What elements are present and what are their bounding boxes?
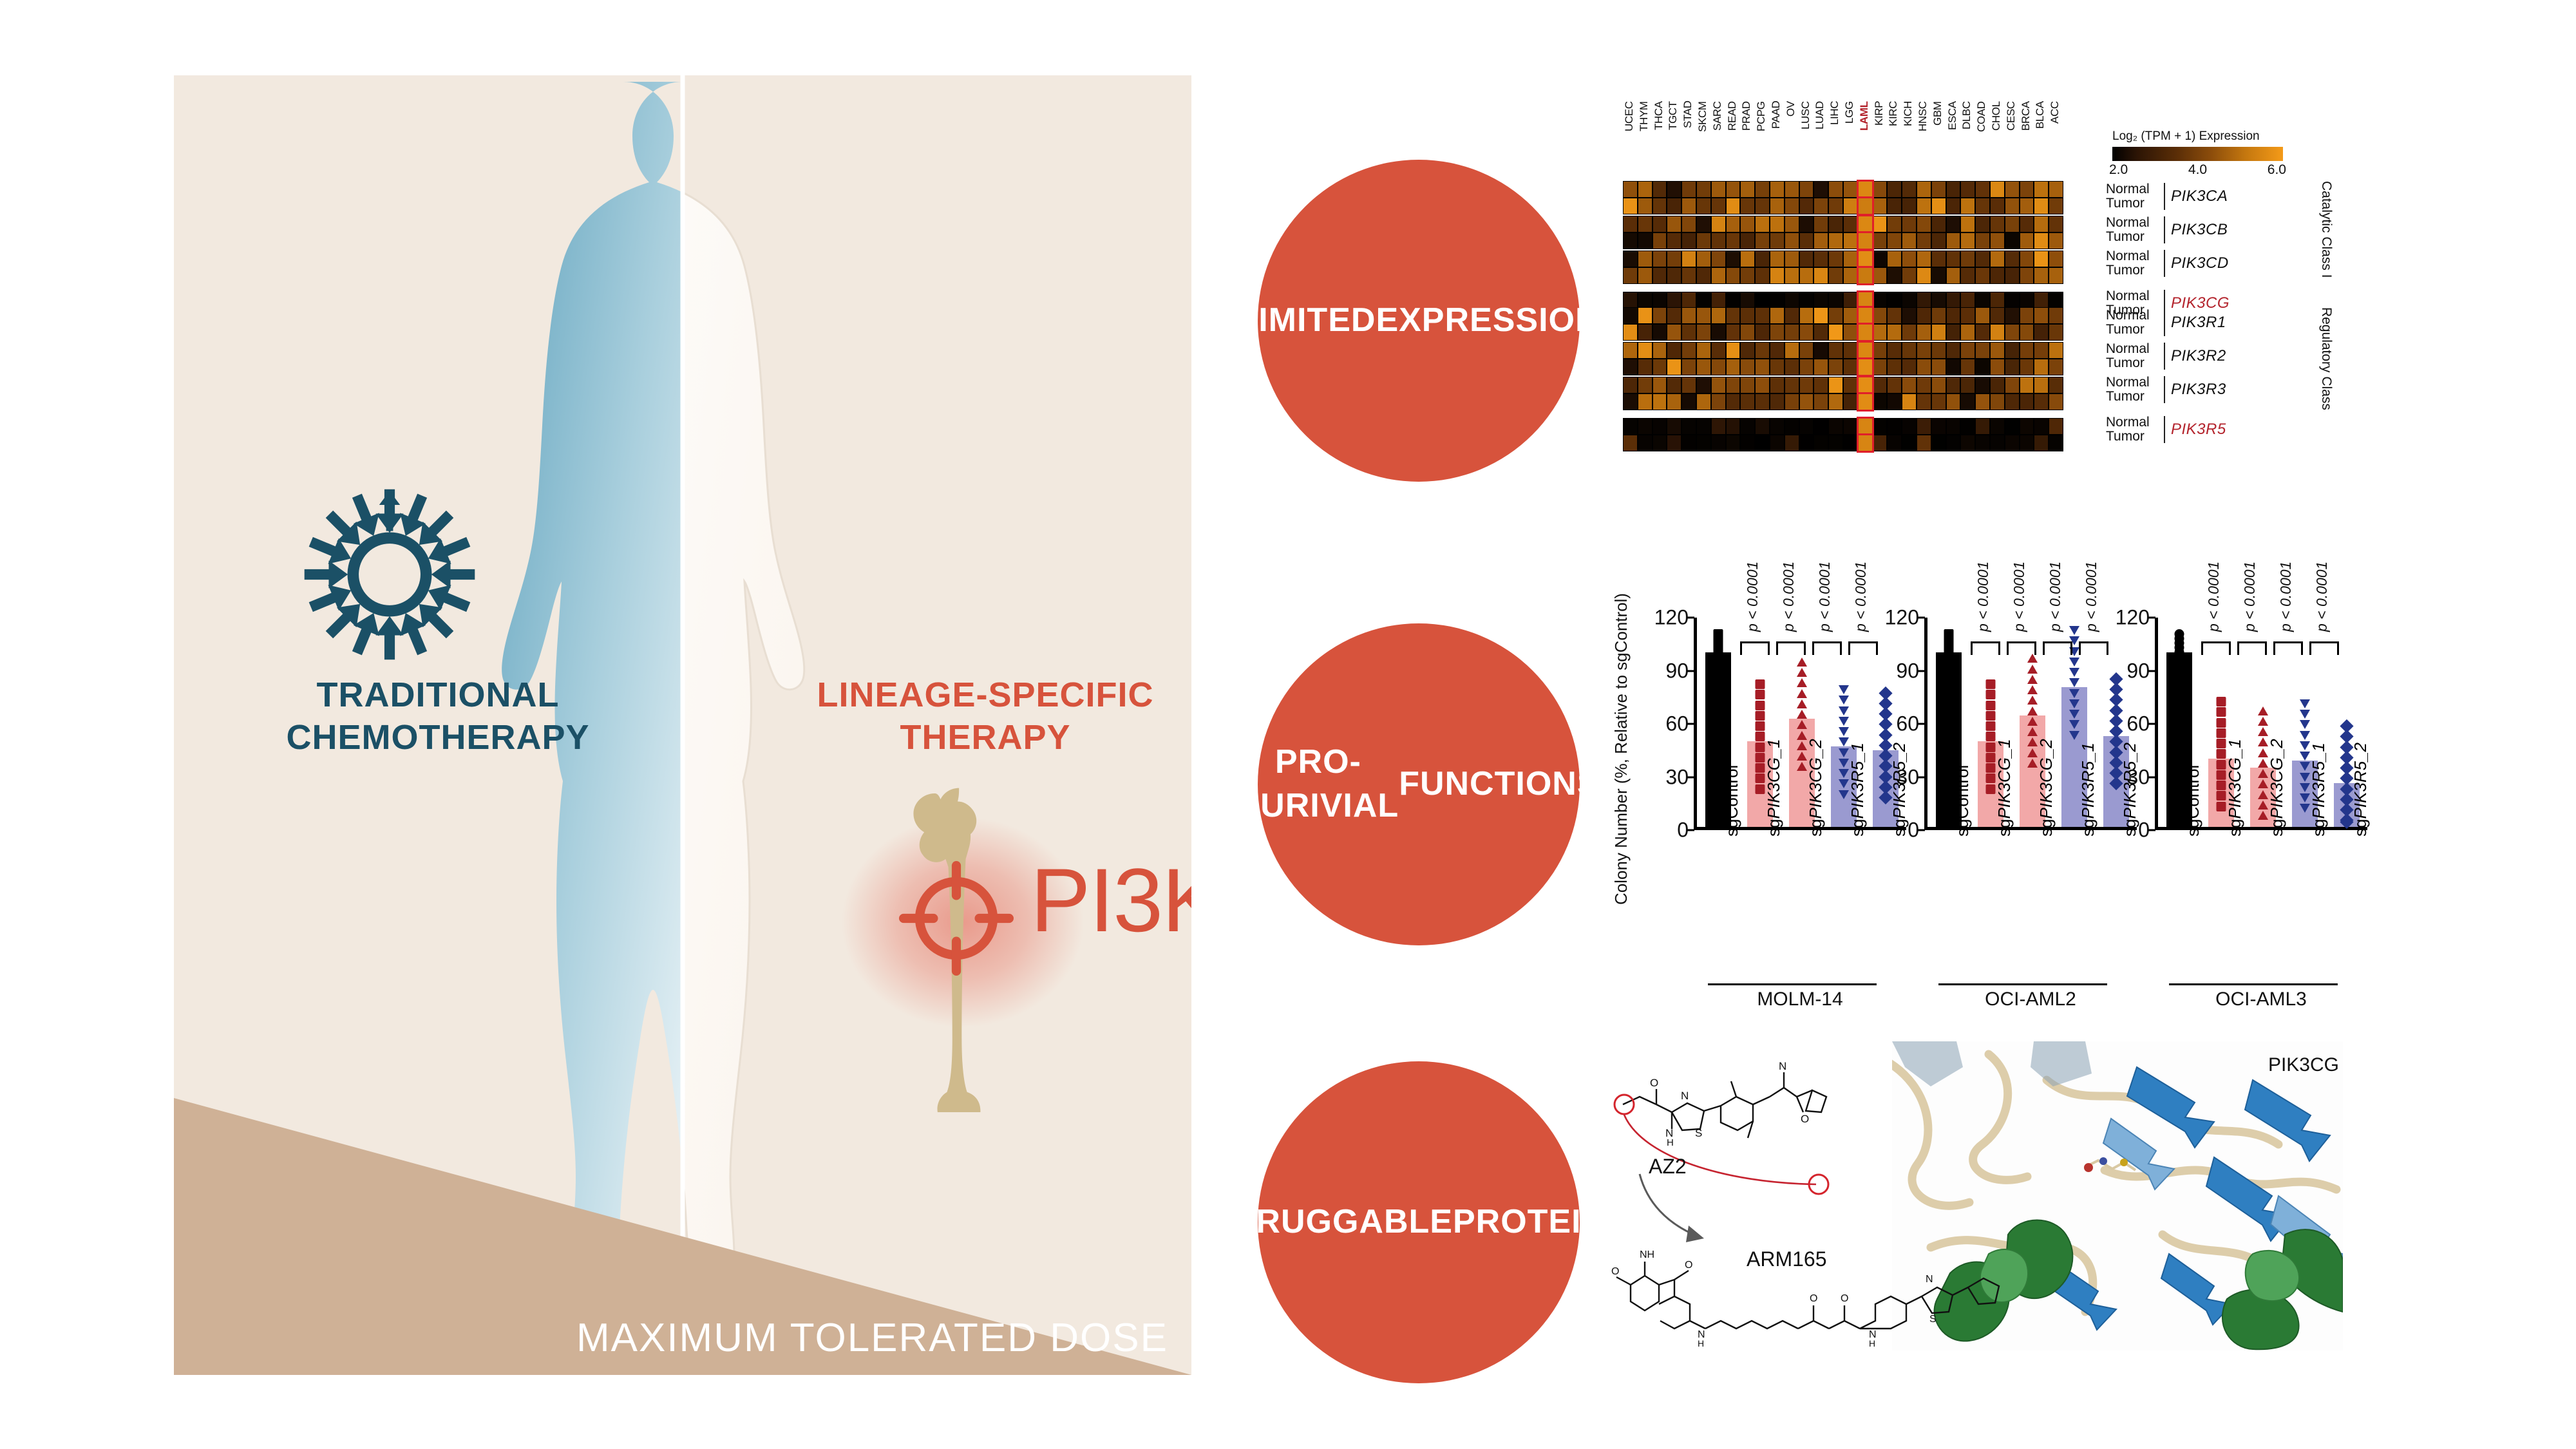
heatmap-cell: [1873, 267, 1888, 284]
heatmap-cell: [1975, 359, 1990, 375]
x-tick-label-sgpik3r5_2: sgPIK3R5_2: [2120, 743, 2140, 837]
heatmap-cell: [1711, 251, 1726, 267]
heatmap-cell: [1931, 251, 1946, 267]
heatmap-cell: [1711, 435, 1726, 451]
heatmap-cell: [1755, 324, 1770, 341]
scatter-point: [2258, 706, 2268, 715]
heatmap-cell: [1975, 198, 1990, 214]
scatter-point: [1713, 629, 1723, 639]
heatmap-cell: [1667, 267, 1681, 284]
heatmap-cell: [1902, 418, 1917, 435]
heatmap-cell: [1726, 307, 1741, 324]
heatmap-row-pik3ca-tumor: [1623, 198, 2063, 214]
heatmap-cell: [1667, 216, 1681, 232]
heatmap-cell: [1638, 324, 1653, 341]
heatmap-cell: [1917, 307, 1931, 324]
heatmap-cell: [2049, 198, 2063, 214]
heatmap-cell: [1799, 418, 1814, 435]
y-tick-label-120: 120: [2116, 606, 2150, 630]
heatmap-cell: [2049, 342, 2063, 359]
heatmap-cell: [2005, 359, 2020, 375]
gene-label-entry-pik3cd: NormalTumorPIK3CD: [2106, 247, 2230, 280]
heatmap-cell: [1799, 267, 1814, 284]
heatmap-cell: [1990, 393, 2005, 410]
heatmap-cell: [1946, 232, 1961, 249]
x-tick-label-sgpik3r5_1: sgPIK3R5_1: [2078, 743, 2098, 837]
legend-tick-2: 6.0: [2268, 162, 2286, 178]
x-tick-label-sgcontrol: sgControl: [1953, 765, 1973, 837]
heatmap-row-pik3r3-tumor: [1623, 393, 2063, 410]
heatmap-cell: [1755, 251, 1770, 267]
heatmap-cell: [2020, 292, 2034, 308]
heatmap-cell: [1843, 216, 1858, 232]
scatter-point: [1985, 784, 1995, 794]
scatter-point: [2300, 731, 2310, 740]
heatmap-cell: [1711, 342, 1726, 359]
heatmap-cell: [2049, 324, 2063, 341]
heatmap-col-label-kirp: KIRP: [1873, 101, 1888, 180]
y-tick-label-90: 90: [2126, 659, 2150, 683]
heatmap-cell: [1667, 359, 1681, 375]
heatmap-col-label-brca: BRCA: [2020, 101, 2034, 180]
regulatory-gene-labels: NormalTumorPIK3R1NormalTumorPIK3R2Normal…: [2106, 306, 2226, 446]
legend-tick-0: 2.0: [2109, 162, 2128, 178]
heatmap-cell: [1917, 324, 1931, 341]
heatmap-cell: [1873, 393, 1888, 410]
scatter-point: [1985, 711, 1995, 721]
chart-group-oci-aml3: 0306090120p < 0.0001p < 0.0001p < 0.0001…: [2155, 584, 2367, 1028]
heatmap-cell: [1638, 216, 1653, 232]
concept-circle-limited-expression: LIMITEDEXPRESSION: [1258, 160, 1580, 482]
heatmap-cell: [1990, 198, 2005, 214]
heatmap-row-pik3r5-tumor: [1623, 435, 2063, 451]
concept-circle-pro-survival-functions: PRO-SURIVIALFUNCTIONS: [1258, 623, 1580, 945]
heatmap-cell: [1785, 435, 1799, 451]
scatter-point: [1985, 679, 1995, 689]
heatmap-col-label-thym: THYM: [1638, 101, 1653, 180]
heatmap-row-spacer: [1623, 284, 2063, 292]
heatmap-cell: [2005, 418, 2020, 435]
heatmap-col-label-tgct: TGCT: [1667, 101, 1681, 180]
heatmap-cell: [1990, 251, 2005, 267]
x-tick-label-sgcontrol: sgControl: [2183, 765, 2203, 837]
scatter-point: [1985, 753, 1995, 762]
heatmap-cell: [1858, 198, 1873, 214]
y-tick-label-120: 120: [1654, 606, 1689, 630]
heatmap-cell: [1667, 292, 1681, 308]
heatmap-cell: [1785, 418, 1799, 435]
heatmap-cell: [1653, 359, 1667, 375]
heatmap-cell: [1814, 324, 1828, 341]
druggability-structure-panel: PIK3CG O N H N: [1584, 1035, 2351, 1396]
heatmap-cell: [1843, 198, 1858, 214]
heatmap-cell: [1931, 435, 1946, 451]
cell-line-rule: [1938, 983, 2107, 985]
y-tick-label-60: 60: [2126, 712, 2150, 736]
heatmap-col-label-chol: CHOL: [1990, 101, 2005, 180]
heatmap-cell: [1873, 342, 1888, 359]
heatmap-cell: [1770, 181, 1785, 198]
heatmap-cell: [2034, 292, 2049, 308]
heatmap-cell: [1799, 324, 1814, 341]
heatmap-cell: [1902, 198, 1917, 214]
heatmap-cell: [1726, 181, 1741, 198]
x-tick-label-sgpik3r5_1: sgPIK3R5_1: [2309, 743, 2329, 837]
heatmap-cell: [2005, 324, 2020, 341]
heatmap-cell: [1726, 435, 1741, 451]
heatmap-cell: [1623, 292, 1638, 308]
heatmap-cell: [1623, 377, 1638, 393]
gene-label-entry-pik3r5: NormalTumorPIK3R5: [2106, 413, 2226, 446]
y-tick-mark: [1687, 723, 1694, 725]
x-tick-label-sgpik3cg_1: sgPIK3CG_1: [2225, 739, 2245, 837]
heatmap-cell: [1770, 435, 1785, 451]
heatmap-cell: [1843, 267, 1858, 284]
scatter-point: [2216, 802, 2226, 811]
heatmap-cell: [1638, 198, 1653, 214]
gene-normal-tumor-sublabels: NormalTumor: [2106, 182, 2163, 211]
heatmap-cell: [1960, 267, 1975, 284]
chart-group-molm-14: 0306090120p < 0.0001p < 0.0001p < 0.0001…: [1694, 584, 1906, 1028]
p-value-annotation: p < 0.0001: [1852, 542, 1870, 632]
heatmap-cell: [1990, 181, 2005, 198]
scatter-point: [1839, 706, 1849, 715]
heatmap-cell: [1960, 359, 1975, 375]
heatmap-cell: [1946, 198, 1961, 214]
heatmap-cell: [1946, 181, 1961, 198]
heatmap-cell: [1873, 307, 1888, 324]
gene-name-pik3cb: PIK3CB: [2171, 221, 2228, 239]
gene-label-entry-pik3r2: NormalTumorPIK3R2: [2106, 339, 2226, 373]
heatmap-cell: [1873, 232, 1888, 249]
heatmap-cell: [1858, 324, 1873, 341]
heatmap-cell: [1681, 292, 1696, 308]
heatmap-cell: [2020, 216, 2034, 232]
gene-divider: [2164, 250, 2165, 277]
heatmap-cell: [1667, 418, 1681, 435]
scatter-point: [1755, 743, 1765, 752]
heatmap-cell: [2049, 359, 2063, 375]
heatmap-cell: [1902, 324, 1917, 341]
heatmap-cell: [1770, 216, 1785, 232]
heatmap-cell: [1755, 267, 1770, 284]
heatmap-cell: [1696, 342, 1711, 359]
heatmap-cell: [1653, 232, 1667, 249]
scatter-point: [2027, 717, 2038, 726]
heatmap-cell: [1726, 232, 1741, 249]
y-tick-label-120: 120: [1885, 606, 1919, 630]
heatmap-cell: [1726, 216, 1741, 232]
heatmap-cell: [1667, 393, 1681, 410]
heatmap-cell: [1785, 377, 1799, 393]
heatmap-cell: [1785, 393, 1799, 410]
lineage-specific-therapy-label: LINEAGE-SPECIFICTHERAPY: [779, 674, 1191, 759]
chart-group-oci-aml2: 0306090120p < 0.0001p < 0.0001p < 0.0001…: [1924, 584, 2137, 1028]
heatmap-cell: [1726, 342, 1741, 359]
heatmap-cell: [1975, 292, 1990, 308]
gene-name-pik3r1: PIK3R1: [2171, 314, 2226, 332]
heatmap-cell: [1696, 198, 1711, 214]
heatmap-cell: [1667, 324, 1681, 341]
heatmap-cell: [1785, 181, 1799, 198]
scatter-point: [2069, 626, 2079, 635]
heatmap-cell: [1873, 418, 1888, 435]
scatter-point: [2027, 696, 2038, 705]
heatmap-cell: [1975, 181, 1990, 198]
heatmap-row-pik3r1-normal: [1623, 307, 2063, 324]
heatmap-cell: [1726, 359, 1741, 375]
heatmap-cell: [2049, 267, 2063, 284]
heatmap-cell: [2049, 418, 2063, 435]
scatter-point: [2216, 781, 2226, 790]
svg-text:O: O: [1611, 1266, 1619, 1277]
gene-normal-tumor-sublabels: NormalTumor: [2106, 375, 2163, 404]
y-tick-mark: [1687, 670, 1694, 672]
heatmap-col-label-thca: THCA: [1653, 101, 1667, 180]
scatter-point: [2300, 720, 2310, 729]
heatmap-cell: [1653, 181, 1667, 198]
heatmap-cell: [2020, 307, 2034, 324]
heatmap-cell: [2020, 324, 2034, 341]
heatmap-cell: [1814, 267, 1828, 284]
heatmap-cell: [2034, 232, 2049, 249]
scatter-point: [1797, 720, 1807, 729]
scatter-point: [2300, 710, 2310, 719]
right-results-panel: LIMITEDEXPRESSION PRO-SURIVIALFUNCTIONS …: [1191, 75, 2363, 1375]
heatmap-cell: [1917, 251, 1931, 267]
scatter-point: [2027, 675, 2038, 684]
heatmap-cell: [1770, 198, 1785, 214]
heatmap-cell: [1711, 267, 1726, 284]
heatmap-cell: [1726, 418, 1741, 435]
heatmap-cell: [1653, 216, 1667, 232]
heatmap-row-pik3r3-normal: [1623, 377, 2063, 393]
gene-label-entry-pik3ca: NormalTumorPIK3CA: [2106, 180, 2230, 213]
heatmap-cell: [2049, 307, 2063, 324]
heatmap-cell: [1873, 216, 1888, 232]
y-tick-mark: [1918, 617, 1925, 619]
heatmap-cell: [1653, 393, 1667, 410]
heatmap-cell: [1917, 342, 1931, 359]
heatmap-cell: [2049, 393, 2063, 410]
significance-bracket: [2237, 641, 2267, 655]
heatmap-cell: [1755, 435, 1770, 451]
heatmap-cell: [1990, 232, 2005, 249]
heatmap-cell: [1960, 393, 1975, 410]
heatmap-column-labels: UCECTHYMTHCATGCTSTADSKCMSARCREADPRADPCPG…: [1623, 101, 2063, 180]
heatmap-col-label-ov: OV: [1785, 101, 1799, 180]
heatmap-cell: [1990, 377, 2005, 393]
heatmap-cell: [1623, 267, 1638, 284]
heatmap-cell: [1843, 292, 1858, 308]
gene-divider: [2164, 343, 2165, 370]
heatmap-cell: [1828, 267, 1843, 284]
scatter-point: [1797, 668, 1807, 677]
class-label-regulatory: Regulatory Class: [2318, 307, 2334, 436]
heatmap-cell: [1873, 181, 1888, 198]
heatmap-row-pik3r2-normal: [1623, 342, 2063, 359]
heatmap-cell: [1902, 292, 1917, 308]
heatmap-cell: [1902, 267, 1917, 284]
pi3k-gamma-target-label: PI3Kγ: [1030, 848, 1191, 952]
heatmap-cell: [2034, 435, 2049, 451]
heatmap-cell: [1799, 198, 1814, 214]
scatter-point: [2027, 654, 2038, 663]
heatmap-cell: [1843, 435, 1858, 451]
heatmap-cell: [1814, 359, 1828, 375]
scatter-point: [1755, 679, 1765, 689]
heatmap-cell: [1902, 393, 1917, 410]
scatter-point: [2109, 672, 2123, 686]
heatmap-cell: [1638, 435, 1653, 451]
svg-text:N: N: [1681, 1090, 1689, 1102]
scatter-point: [2216, 791, 2226, 800]
heatmap-cell: [2020, 377, 2034, 393]
heatmap-cell: [1902, 251, 1917, 267]
heatmap-cell: [1887, 292, 1902, 308]
heatmap-cell: [1990, 324, 2005, 341]
heatmap-cell: [2034, 198, 2049, 214]
heatmap-cell: [1990, 342, 2005, 359]
heatmap-cell: [1946, 216, 1961, 232]
x-tick-label-sgpik3r5_2: sgPIK3R5_2: [2351, 743, 2371, 837]
heatmap-cell: [1858, 359, 1873, 375]
svg-text:H: H: [1869, 1338, 1875, 1349]
heatmap-cell: [1770, 359, 1785, 375]
heatmap-cell: [1828, 232, 1843, 249]
heatmap-cell: [1799, 342, 1814, 359]
heatmap-cell: [1623, 342, 1638, 359]
heatmap-cell: [1858, 418, 1873, 435]
heatmap-cell: [1726, 251, 1741, 267]
heatmap-row-pik3r2-tumor: [1623, 359, 2063, 375]
svg-text:N: N: [1779, 1060, 1786, 1072]
heatmap-cell: [2049, 377, 2063, 393]
heatmap-cell: [1638, 251, 1653, 267]
heatmap-cell: [1755, 216, 1770, 232]
y-tick-mark: [1918, 829, 1925, 831]
heatmap-col-label-cesc: CESC: [2005, 101, 2020, 180]
heatmap-row-pik3r1-tumor: [1623, 324, 2063, 341]
svg-text:S: S: [1929, 1314, 1937, 1325]
heatmap-cell: [1843, 393, 1858, 410]
heatmap-cell: [1990, 307, 2005, 324]
heatmap-cell: [1902, 359, 1917, 375]
heatmap-cell: [1711, 324, 1726, 341]
scatter-point: [2216, 697, 2226, 706]
heatmap-cell: [1828, 342, 1843, 359]
heatmap-cell: [1946, 342, 1961, 359]
heatmap-cell: [1638, 418, 1653, 435]
y-tick-mark: [2148, 617, 2155, 619]
heatmap-cell: [1990, 359, 2005, 375]
scatter-point: [1755, 753, 1765, 762]
heatmap-catalytic-grid: [1623, 181, 2063, 325]
heatmap-cell: [2005, 181, 2020, 198]
heatmap-cell: [1858, 377, 1873, 393]
heatmap-cell: [1917, 267, 1931, 284]
heatmap-col-label-dlbc: DLBC: [1960, 101, 1975, 180]
heatmap-cell: [1799, 359, 1814, 375]
heatmap-col-label-skcm: SKCM: [1696, 101, 1711, 180]
heatmap-cell: [1667, 251, 1681, 267]
heatmap-cell: [1814, 393, 1828, 410]
heatmap-cell: [1623, 251, 1638, 267]
heatmap-cell: [1726, 377, 1741, 393]
heatmap-cell: [1755, 198, 1770, 214]
heatmap-cell: [2005, 307, 2020, 324]
gene-name-pik3r5: PIK3R5: [2171, 421, 2226, 439]
significance-bracket: [1971, 641, 2000, 655]
heatmap-cell: [1917, 377, 1931, 393]
heatmap-row-pik3ca-normal: [1623, 181, 2063, 198]
heatmap-cell: [1623, 393, 1638, 410]
heatmap-cell: [1931, 377, 1946, 393]
svg-text:O: O: [1801, 1113, 1809, 1125]
heatmap-cell: [2034, 359, 2049, 375]
heatmap-cell: [2005, 342, 2020, 359]
heatmap-cell: [1843, 307, 1858, 324]
heatmap-cell: [1946, 377, 1961, 393]
heatmap-cell: [1653, 292, 1667, 308]
heatmap-cell: [1755, 342, 1770, 359]
heatmap-cell: [1931, 232, 1946, 249]
heatmap-cell: [1990, 418, 2005, 435]
heatmap-col-label-prad: PRAD: [1740, 101, 1755, 180]
heatmap-cell: [1902, 216, 1917, 232]
heatmap-row-pik3cb-normal: [1623, 216, 2063, 232]
scatter-point: [1755, 690, 1765, 699]
x-tick-label-sgpik3cg_2: sgPIK3CG_2: [1806, 739, 1826, 837]
scatter-point: [2216, 718, 2226, 728]
heatmap-cell: [1887, 377, 1902, 393]
gene-normal-tumor-sublabels: NormalTumor: [2106, 342, 2163, 371]
crosshair-target-icon: [899, 861, 1014, 976]
heatmap-cell: [1902, 307, 1917, 324]
scatter-point: [2069, 658, 2079, 667]
heatmap-cell: [2034, 307, 2049, 324]
heatmap-cell: [1726, 324, 1741, 341]
heatmap-cell: [2049, 435, 2063, 451]
heatmap-cell: [1931, 292, 1946, 308]
heatmap-cell: [1681, 267, 1696, 284]
x-tick-label-sgpik3cg_1: sgPIK3CG_1: [1994, 739, 2014, 837]
gene-name-pik3ca: PIK3CA: [2171, 187, 2228, 205]
catalytic-gene-labels: NormalTumorPIK3CANormalTumorPIK3CBNormal…: [2106, 180, 2230, 320]
gene-normal-tumor-sublabels: NormalTumor: [2106, 216, 2163, 245]
heatmap-cell: [2020, 393, 2034, 410]
heatmap-cell: [1623, 418, 1638, 435]
scatter-point: [1755, 784, 1765, 794]
heatmap-cell: [1931, 307, 1946, 324]
heatmap-cell: [1696, 418, 1711, 435]
p-value-annotation: p < 0.0001: [2205, 542, 2222, 632]
gene-normal-tumor-sublabels: NormalTumor: [2106, 249, 2163, 278]
scatter-point: [1755, 763, 1765, 773]
heatmap-col-label-luad: LUAD: [1814, 101, 1828, 180]
significance-bracket: [1776, 641, 1806, 655]
az2-compound-label: AZ2: [1649, 1155, 1687, 1179]
heatmap-cell: [1770, 418, 1785, 435]
heatmap-cell: [2049, 292, 2063, 308]
heatmap-cell: [1681, 342, 1696, 359]
svg-text:O: O: [1650, 1077, 1658, 1089]
scatter-point: [1985, 732, 1995, 741]
heatmap-cell: [1873, 435, 1888, 451]
heatmap-cell: [2020, 359, 2034, 375]
heatmap-cell: [1873, 324, 1888, 341]
heatmap-cell: [1681, 377, 1696, 393]
